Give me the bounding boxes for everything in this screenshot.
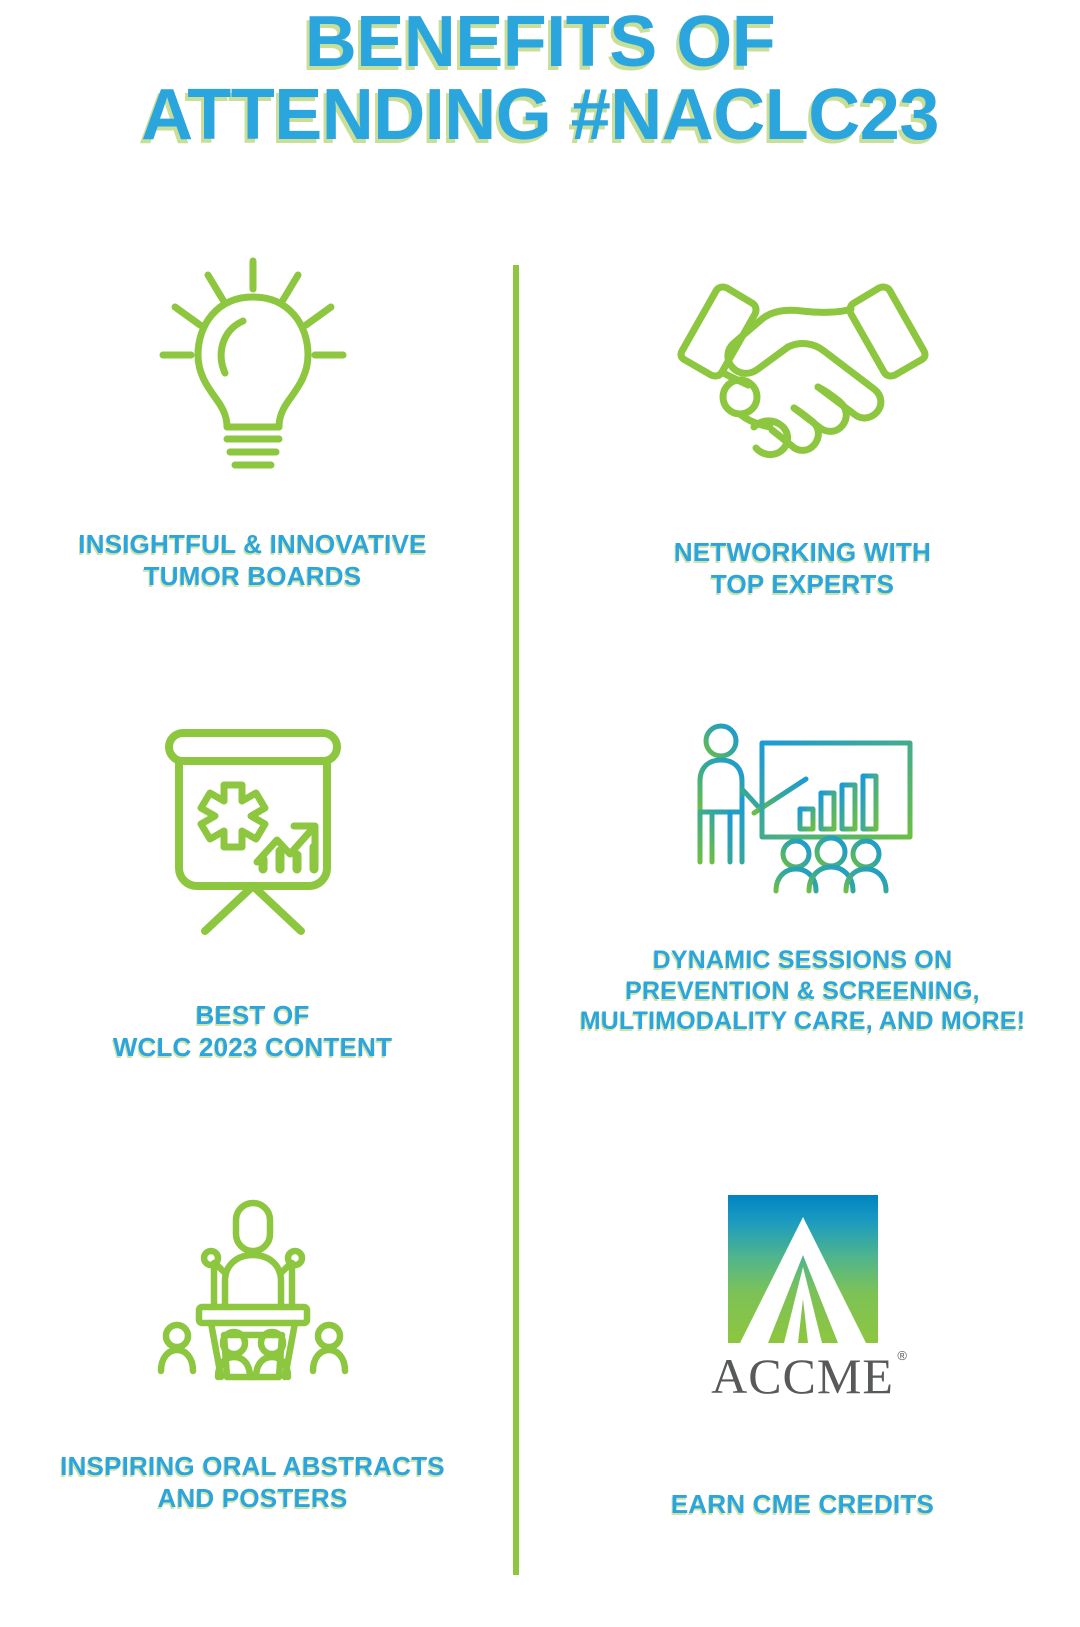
- benefit-caption: NETWORKING WITH TOP EXPERTS: [674, 537, 931, 600]
- accme-wordmark-text: ACCME: [711, 1348, 894, 1404]
- caption-line: TOP EXPERTS: [674, 569, 931, 601]
- caption-line: AND POSTERS: [60, 1483, 445, 1515]
- benefit-caption: INSPIRING ORAL ABSTRACTS AND POSTERS: [60, 1451, 445, 1514]
- caption-line: BEST OF: [113, 1000, 392, 1032]
- benefit-item-dynamic-sessions: DYNAMIC SESSIONS ON PREVENTION & SCREENI…: [525, 715, 1080, 1135]
- title-line-1: BENEFITS OF: [0, 6, 1080, 79]
- accme-mark-icon: [728, 1195, 878, 1343]
- accme-trademark-icon: ®: [897, 1349, 908, 1362]
- caption-line: WCLC 2023 CONTENT: [113, 1032, 392, 1064]
- caption-line: INSPIRING ORAL ABSTRACTS: [60, 1451, 445, 1483]
- benefit-item-oral-abstracts: INSPIRING ORAL ABSTRACTS AND POSTERS: [0, 1185, 505, 1625]
- benefit-caption: DYNAMIC SESSIONS ON PREVENTION & SCREENI…: [580, 945, 1026, 1037]
- accme-wordmark: ACCME ®: [711, 1351, 894, 1401]
- caption-line: NETWORKING WITH: [674, 537, 931, 569]
- benefit-caption: INSIGHTFUL & INNOVATIVE TUMOR BOARDS: [78, 529, 426, 592]
- benefit-caption: BEST OF WCLC 2023 CONTENT: [113, 1000, 392, 1063]
- lightbulb-icon: [153, 255, 353, 485]
- title-line-2: ATTENDING #NACLC23: [0, 79, 1080, 152]
- benefit-item-tumor-boards: INSIGHTFUL & INNOVATIVE TUMOR BOARDS: [0, 255, 505, 655]
- caption-line: INSIGHTFUL & INNOVATIVE: [78, 529, 426, 561]
- page-title: BENEFITS OF ATTENDING #NACLC23: [0, 6, 1080, 153]
- presenter-audience-icon: [690, 719, 915, 899]
- caption-line: TUMOR BOARDS: [78, 561, 426, 593]
- benefit-item-wclc-content: BEST OF WCLC 2023 CONTENT: [0, 715, 505, 1135]
- benefit-item-networking: NETWORKING WITH TOP EXPERTS: [525, 255, 1080, 655]
- caption-line: EARN CME CREDITS: [671, 1489, 934, 1521]
- caption-line: PREVENTION & SCREENING,: [580, 976, 1026, 1007]
- handshake-icon: [668, 269, 938, 459]
- accme-logo: ACCME ®: [711, 1195, 894, 1401]
- projector-screen-chart-icon: [153, 723, 353, 938]
- podium-speaker-icon: [153, 1191, 353, 1381]
- benefit-caption: EARN CME CREDITS: [671, 1489, 934, 1521]
- infographic-page: BENEFITS OF ATTENDING #NACLC23: [0, 0, 1080, 1627]
- benefit-item-cme-credits: ACCME ® EARN CME CREDITS: [525, 1185, 1080, 1625]
- caption-line: DYNAMIC SESSIONS ON: [580, 945, 1026, 976]
- caption-line: MULTIMODALITY CARE, AND MORE!: [580, 1006, 1026, 1037]
- benefits-grid: INSIGHTFUL & INNOVATIVE TUMOR BOARDS: [0, 255, 1080, 1627]
